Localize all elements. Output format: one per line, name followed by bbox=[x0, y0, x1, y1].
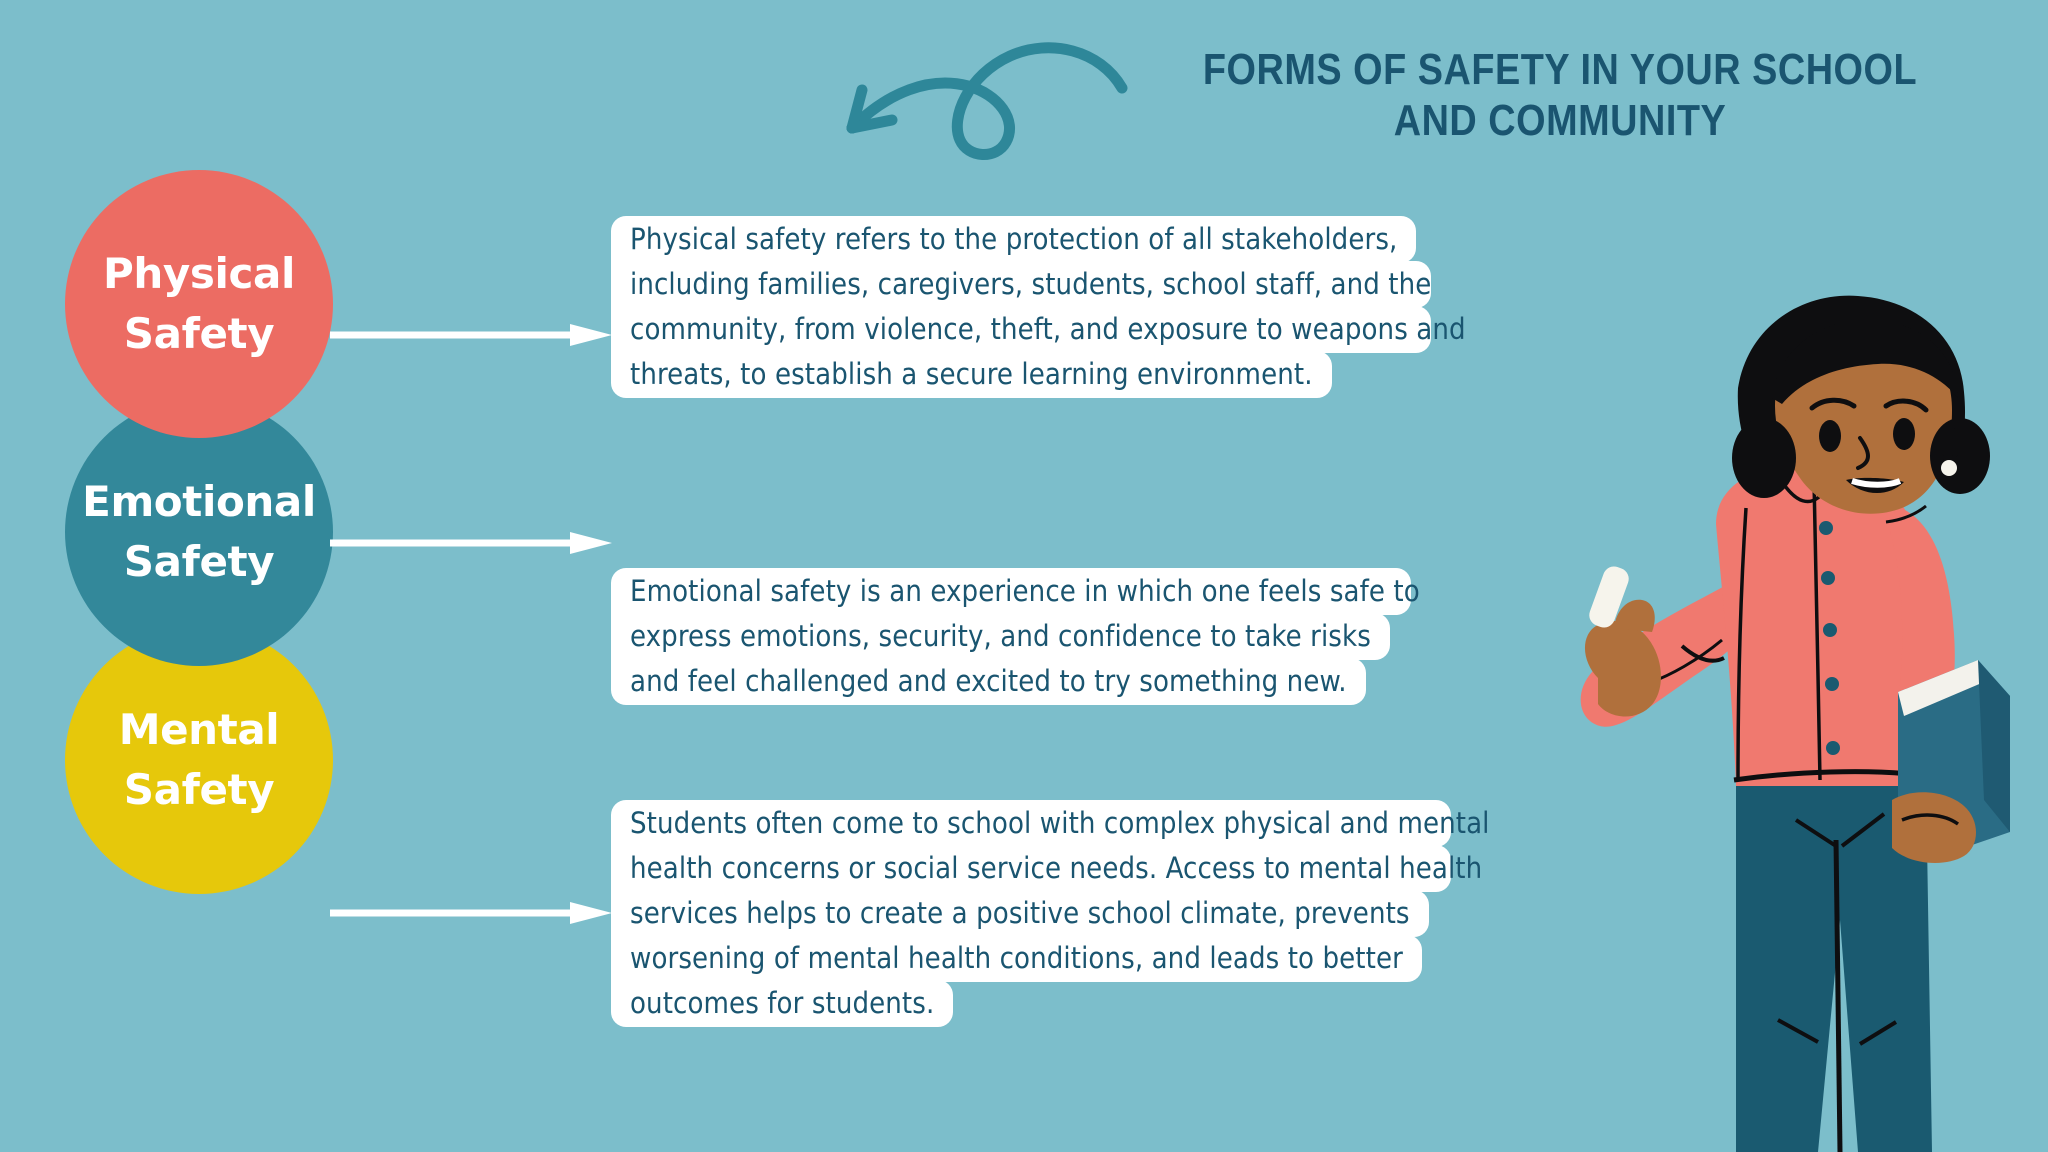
card-mental-safety: Students often come to school with compl… bbox=[611, 800, 1451, 1027]
title-line-2: and Community bbox=[1164, 95, 1955, 146]
badge-physical-safety[interactable]: Physical Safety bbox=[65, 170, 333, 438]
badge-physical-label-2: Safety bbox=[124, 304, 274, 364]
card-line: worsening of mental health conditions, a… bbox=[611, 935, 1422, 982]
card-line: health concerns or social service needs.… bbox=[611, 845, 1451, 892]
card-line: outcomes for students. bbox=[611, 980, 953, 1027]
badge-emotional-label-2: Safety bbox=[124, 532, 274, 592]
badge-mental-safety[interactable]: Mental Safety bbox=[65, 626, 333, 894]
teacher-illustration bbox=[1540, 280, 2048, 1152]
badge-mental-label-1: Mental bbox=[119, 700, 280, 760]
badge-physical-label-1: Physical bbox=[103, 244, 295, 304]
title-line-1: Forms of Safety in Your School bbox=[1164, 44, 1955, 95]
card-physical-safety: Physical safety refers to the protection… bbox=[611, 216, 1431, 398]
card-line: Students often come to school with compl… bbox=[611, 800, 1451, 847]
card-line: including families, caregivers, students… bbox=[611, 261, 1431, 308]
arrow-connector-mental bbox=[330, 900, 612, 926]
page-title: Forms of Safety in Your School and Commu… bbox=[1164, 44, 1955, 146]
badge-emotional-label-1: Emotional bbox=[82, 472, 316, 532]
card-line: services helps to create a positive scho… bbox=[611, 890, 1429, 937]
badge-emotional-safety[interactable]: Emotional Safety bbox=[65, 398, 333, 666]
card-line: Emotional safety is an experience in whi… bbox=[611, 568, 1411, 615]
card-line: and feel challenged and excited to try s… bbox=[611, 658, 1366, 705]
arrow-connector-emotional bbox=[330, 530, 612, 556]
badge-mental-label-2: Safety bbox=[124, 760, 274, 820]
card-line: express emotions, security, and confiden… bbox=[611, 613, 1390, 660]
card-line: threats, to establish a secure learning … bbox=[611, 351, 1332, 398]
card-line: community, from violence, theft, and exp… bbox=[611, 306, 1431, 353]
infographic-canvas: Forms of Safety in Your School and Commu… bbox=[0, 0, 2048, 1152]
curly-arrow-icon bbox=[800, 28, 1130, 168]
arrow-connector-physical bbox=[330, 322, 612, 348]
card-emotional-safety: Emotional safety is an experience in whi… bbox=[611, 568, 1411, 705]
card-line: Physical safety refers to the protection… bbox=[611, 216, 1416, 263]
